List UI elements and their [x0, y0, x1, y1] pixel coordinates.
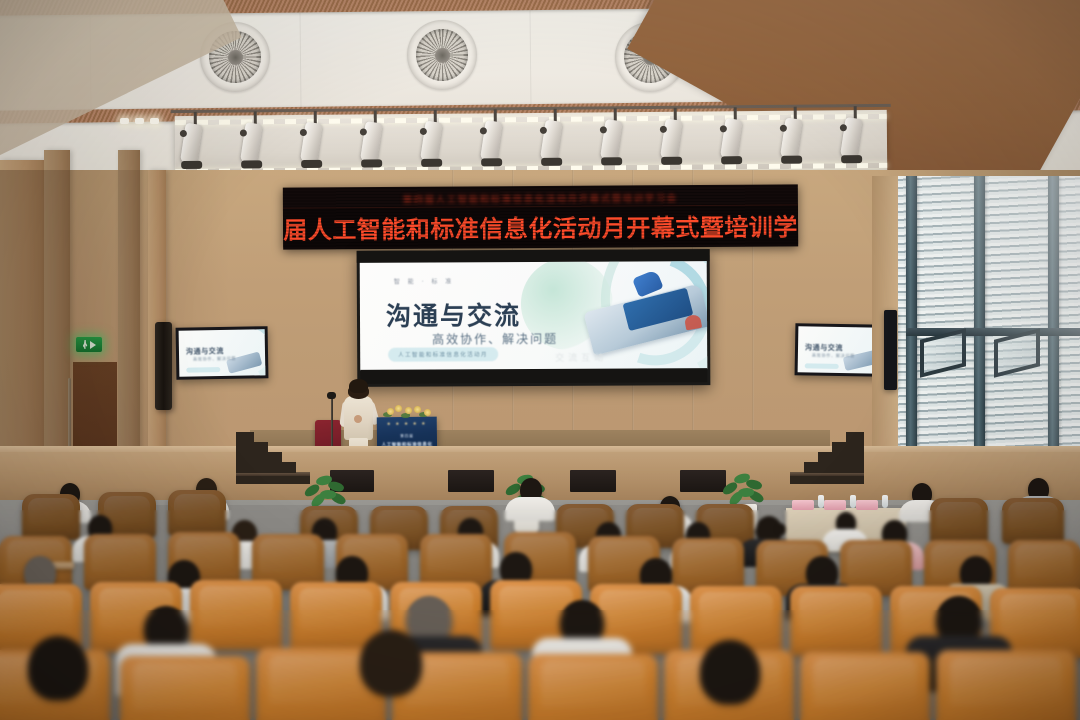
stage-light-rail: [175, 110, 888, 178]
downlight: [135, 118, 144, 124]
stage-vent-3: [570, 470, 616, 492]
window-transom: [906, 328, 1080, 336]
projection-screen: 智 能 · 标 准 沟通与交流 高效协作、解决问题 人工智能和标准信息化活动月 …: [357, 249, 711, 387]
screen-mask-bottom: [360, 368, 707, 384]
stage-spotlight-5: [423, 110, 449, 164]
audience-head: [360, 630, 422, 696]
audience-seat[interactable]: [930, 498, 988, 544]
led-banner-main-text: 第四届人工智能和标准信息化活动月开幕式暨培训学习会: [283, 207, 798, 246]
water-bottle-3: [882, 495, 888, 508]
audience-seat[interactable]: [790, 586, 882, 656]
stage-steps-right[interactable]: [790, 424, 864, 480]
downlight: [150, 118, 159, 124]
stage-spotlight-9: [663, 108, 689, 162]
stage-spotlight-6: [483, 109, 509, 163]
wall-monitor-left: 沟通与交流 高效协作、解决问题: [176, 326, 269, 380]
stage-spotlight-2: [243, 111, 269, 165]
stage-steps-left[interactable]: [236, 424, 310, 480]
audience-seat[interactable]: [120, 656, 250, 720]
slide-logo-text: 智 能 · 标 准: [394, 276, 455, 285]
wall-monitor-left-screen: 沟通与交流 高效协作、解决问题: [179, 329, 266, 376]
downlight: [120, 118, 129, 124]
audience-head: [28, 636, 88, 700]
stage-spotlight-10: [723, 107, 749, 161]
plant-foliage: [300, 470, 352, 510]
led-banner-secondary-text: 第四届人工智能和标准信息化活动月开幕式暨培训学习会: [403, 191, 678, 206]
registration-box-3: [856, 500, 878, 510]
audience-seat[interactable]: [936, 650, 1076, 720]
wall-monitor-right-subtitle: 高效协作、解决问题: [812, 352, 855, 359]
podium-line-1: ★ ★ ★ ★ ★: [387, 422, 427, 427]
monitor-pill-art: [805, 363, 839, 369]
audience-head: [700, 640, 760, 704]
stage-spotlight-8: [603, 108, 629, 162]
audience-seat[interactable]: [1002, 498, 1064, 544]
wall-monitor-left-title: 沟通与交流: [186, 346, 224, 357]
microphone-head: [327, 392, 336, 399]
led-banner-main-row: 第四届人工智能和标准信息化活动月开幕式暨培训学习会: [283, 204, 798, 247]
wall-monitor-right-screen: 沟通与交流 高效协作、解决问题: [798, 326, 883, 373]
audience-seat[interactable]: [168, 490, 226, 536]
slide-title: 沟通与交流: [386, 296, 521, 333]
presenter-hair: [349, 379, 368, 393]
truss-light-strip-top: [175, 114, 887, 125]
led-banner: 第四届人工智能和标准信息化活动月开幕式暨培训学习会 第四届人工智能和标准信息化活…: [283, 184, 798, 249]
audience-seat[interactable]: [22, 494, 80, 540]
slide-watermark: 交流互动: [555, 351, 607, 364]
stage-spotlight-12: [843, 106, 869, 160]
wall-black-panel: [884, 310, 897, 390]
podium-line-2: 第四届: [400, 434, 414, 439]
downlight-group-1: [120, 118, 159, 124]
slide-subtitle: 高效协作、解决问题: [432, 330, 558, 348]
audience-shoulders: [505, 497, 555, 521]
auditorium-photo: 第四届人工智能和标准信息化活动月开幕式暨培训学习会 第四届人工智能和标准信息化活…: [0, 0, 1080, 720]
presentation-slide: 智 能 · 标 准 沟通与交流 高效协作、解决问题 人工智能和标准信息化活动月 …: [360, 261, 708, 371]
stage-vent-2: [448, 470, 494, 492]
wall-monitor-left-subtitle: 高效协作、解决问题: [193, 356, 236, 363]
stage-spotlight-7: [543, 109, 569, 163]
podium-flower-arrangement: [381, 404, 435, 420]
air-diffuser-2: [407, 20, 477, 90]
stage-spotlight-1: [183, 112, 209, 166]
audience-seat[interactable]: [800, 652, 930, 720]
water-bottle-1: [818, 495, 824, 508]
stage-spotlight-11: [783, 107, 809, 161]
monitor-pill-art: [186, 367, 220, 373]
slide-pill-label: 人工智能和标准信息化活动月: [388, 347, 498, 362]
slide-decorative-artwork: [527, 261, 708, 371]
stage-spotlight-3: [303, 111, 329, 165]
audience-seat[interactable]: [528, 654, 658, 720]
audience-seat[interactable]: [190, 580, 282, 650]
registration-box-1: [792, 500, 814, 510]
stage-spotlight-4: [363, 110, 389, 164]
water-bottle-2: [850, 495, 856, 508]
registration-box-2: [824, 500, 846, 510]
plant-foliage: [718, 468, 770, 508]
wall-monitor-right-title: 沟通与交流: [805, 342, 843, 353]
presenter-hand: [354, 415, 362, 423]
